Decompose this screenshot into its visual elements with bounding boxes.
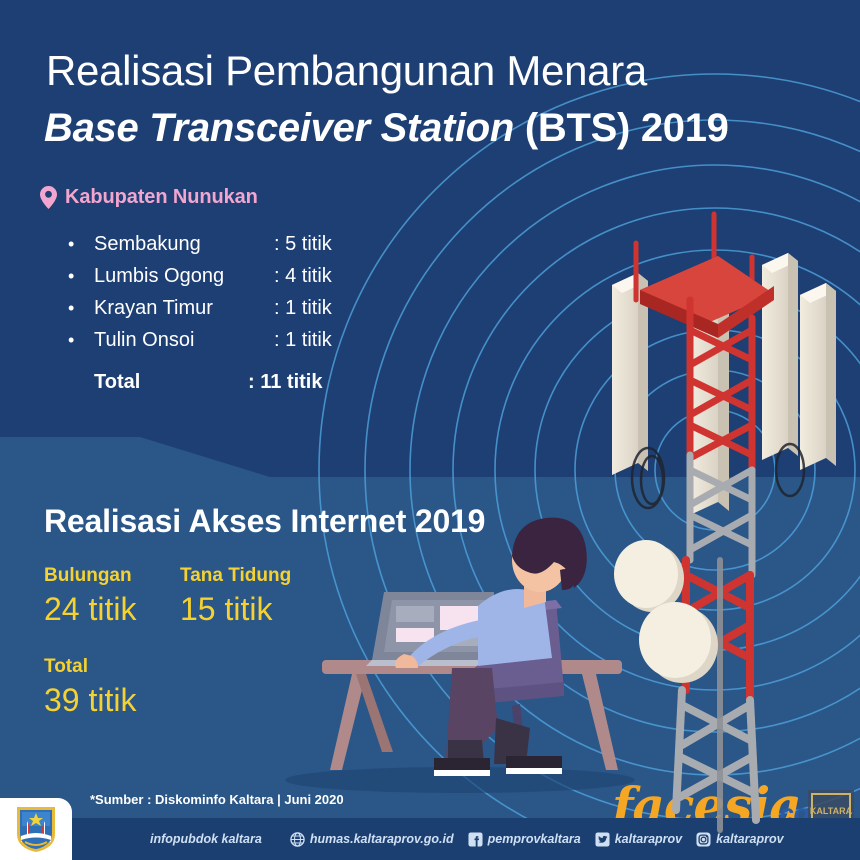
stat-total-value: 39 titik	[44, 680, 136, 720]
source-note: *Sumber : Diskominfo Kaltara | Juni 2020	[90, 792, 344, 807]
social-instagram-label: kaltaraprov	[716, 832, 783, 846]
stat-total-label: Total	[44, 656, 136, 678]
location-label-group: Kabupaten Nunukan	[40, 186, 258, 209]
twitter-icon	[595, 832, 610, 847]
stat-bulungan: Bulungan 24 titik	[44, 565, 136, 629]
kaltara-emblem-box	[0, 798, 72, 860]
list-item-value: : 5 titik	[274, 233, 332, 256]
stat-tana-tidung-value: 15 titik	[180, 589, 291, 629]
list-item-value: : 1 titik	[274, 297, 332, 320]
social-website-label: humas.kaltaraprov.go.id	[310, 832, 454, 846]
stat-bulungan-label: Bulungan	[44, 565, 136, 587]
list-item-name: Lumbis Ogong	[94, 265, 274, 288]
page-title-italic: Base Transceiver Station	[44, 106, 514, 150]
instagram-icon	[696, 832, 711, 847]
facebook-icon	[468, 832, 483, 847]
social-infopubdok-label: infopubdok kaltara	[150, 832, 262, 846]
map-pin-icon	[40, 186, 57, 209]
stat-internet-total: Total 39 titik	[44, 656, 136, 720]
list-item-value: : 1 titik	[274, 329, 332, 352]
footer-social-bar: infopubdok kaltara humas.kaltaraprov.go.…	[150, 818, 710, 860]
bullet-glyph: •	[68, 235, 94, 253]
list-item: • Tulin Onsoi : 1 titik	[68, 329, 488, 361]
page-title-line2: Base Transceiver Station (BTS) 2019	[44, 104, 824, 152]
social-item-facebook[interactable]: pemprovkaltara	[468, 832, 581, 847]
list-item-value: : 4 titik	[274, 265, 332, 288]
kaltara-coat-of-arms-emblem	[14, 804, 58, 854]
infographic-page: Realisasi Pembangunan Menara Base Transc…	[0, 0, 860, 860]
stat-tana-tidung-label: Tana Tidung	[180, 565, 291, 587]
stat-bulungan-value: 24 titik	[44, 589, 136, 629]
page-title-roman: (BTS) 2019	[514, 106, 729, 150]
page-title-line1: Realisasi Pembangunan Menara	[46, 46, 766, 96]
bullet-glyph: •	[68, 267, 94, 285]
location-label: Kabupaten Nunukan	[65, 186, 258, 209]
bts-total-value: : 11 titik	[248, 371, 322, 394]
social-item-instagram[interactable]: kaltaraprov	[696, 832, 783, 847]
list-item: • Krayan Timur : 1 titik	[68, 297, 488, 329]
social-facebook-label: pemprovkaltara	[488, 832, 581, 846]
list-item: • Lumbis Ogong : 4 titik	[68, 265, 488, 297]
social-item-infopubdok: infopubdok kaltara	[150, 832, 262, 846]
list-item: • Sembakung : 5 titik	[68, 233, 488, 265]
bullet-glyph: •	[68, 299, 94, 317]
stat-tana-tidung: Tana Tidung 15 titik	[180, 565, 291, 629]
bts-list: • Sembakung : 5 titik • Lumbis Ogong : 4…	[68, 233, 488, 403]
bullet-glyph: •	[68, 331, 94, 349]
bts-total-row: Total : 11 titik	[68, 371, 488, 403]
social-item-website[interactable]: humas.kaltaraprov.go.id	[290, 832, 454, 847]
social-item-twitter[interactable]: kaltaraprov	[595, 832, 682, 847]
internet-section-heading: Realisasi Akses Internet 2019	[44, 503, 485, 540]
social-twitter-label: kaltaraprov	[615, 832, 682, 846]
list-item-name: Sembakung	[94, 233, 274, 256]
list-item-name: Krayan Timur	[94, 297, 274, 320]
list-item-name: Tulin Onsoi	[94, 329, 274, 352]
bts-total-label: Total	[68, 371, 248, 394]
globe-icon	[290, 832, 305, 847]
